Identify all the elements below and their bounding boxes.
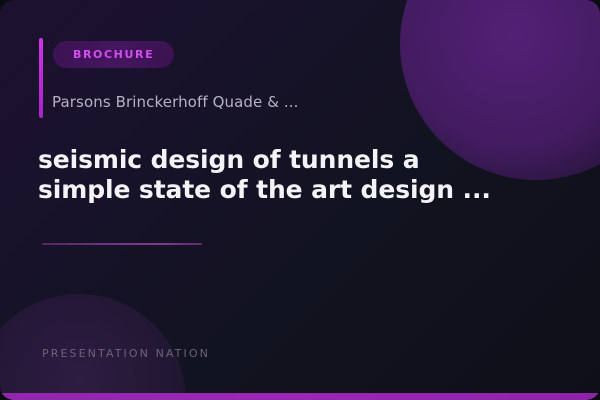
category-badge: BROCHURE	[53, 41, 174, 68]
accent-bar	[39, 38, 43, 118]
slide-content: BROCHURE Parsons Brinckerhoff Quade & ..…	[0, 0, 600, 400]
bottom-accent-bar	[0, 393, 600, 400]
slide-title: seismic design of tunnels a simple state…	[38, 145, 508, 205]
slide-title-line-2: simple state of the art design ...	[38, 175, 508, 205]
slide-subtitle: Parsons Brinckerhoff Quade & ...	[52, 92, 482, 112]
footer-brand: PRESENTATION NATION	[42, 347, 210, 361]
slide-title-line-1: seismic design of tunnels a	[38, 145, 508, 175]
presentation-slide-card: BROCHURE Parsons Brinckerhoff Quade & ..…	[0, 0, 600, 400]
category-badge-label: BROCHURE	[73, 49, 154, 60]
title-divider	[42, 243, 202, 245]
